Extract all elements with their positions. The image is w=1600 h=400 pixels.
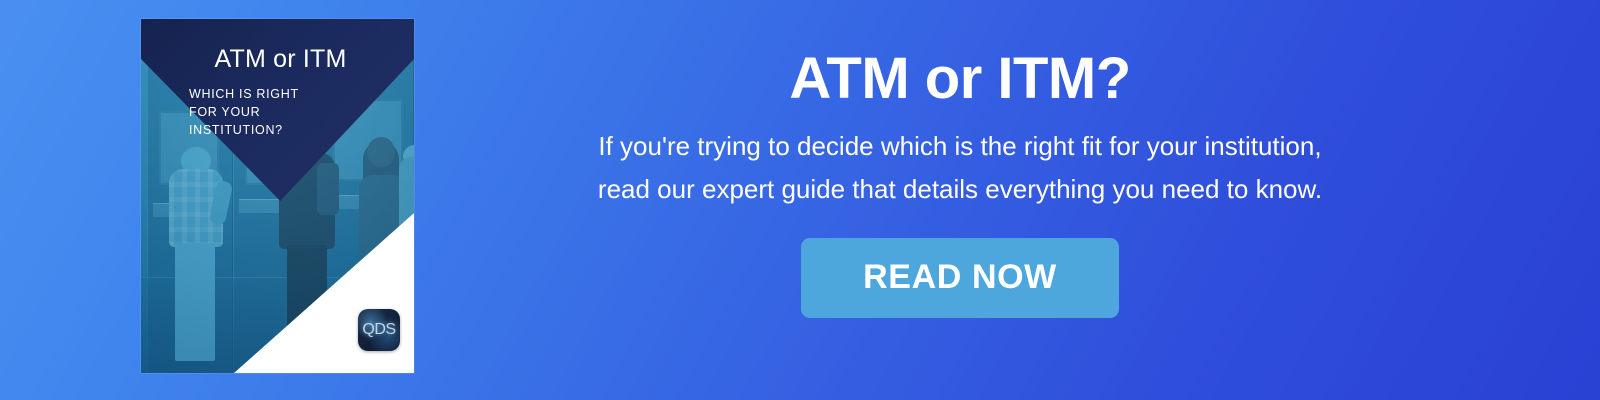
cta-row: READ NOW xyxy=(470,238,1450,318)
promo-subcopy: If you're trying to decide which is the … xyxy=(500,125,1420,212)
qds-logo-icon: QDS xyxy=(358,309,400,351)
promo-content: ATM or ITM? If you're trying to decide w… xyxy=(470,0,1450,400)
promo-subcopy-line1: If you're trying to decide which is the … xyxy=(598,131,1321,161)
qds-logo-text: QDS xyxy=(362,321,395,339)
promo-subcopy-line2: read our expert guide that details every… xyxy=(598,174,1322,204)
page-title: ATM or ITM? xyxy=(470,0,1450,111)
ebook-cover-thumbnail[interactable]: ATM or ITM WHICH IS RIGHTFOR YOURINSTITU… xyxy=(141,19,414,373)
cover-subtitle: WHICH IS RIGHTFOR YOURINSTITUTION? xyxy=(189,85,299,139)
cover-subtitle-line2: FOR YOUR xyxy=(189,105,260,119)
read-now-button[interactable]: READ NOW xyxy=(801,238,1119,318)
cover-title: ATM or ITM xyxy=(141,45,414,74)
cover-subtitle-line1: WHICH IS RIGHT xyxy=(189,87,299,101)
promo-banner: ATM or ITM WHICH IS RIGHTFOR YOURINSTITU… xyxy=(0,0,1600,400)
cover-subtitle-line3: INSTITUTION? xyxy=(189,123,283,137)
